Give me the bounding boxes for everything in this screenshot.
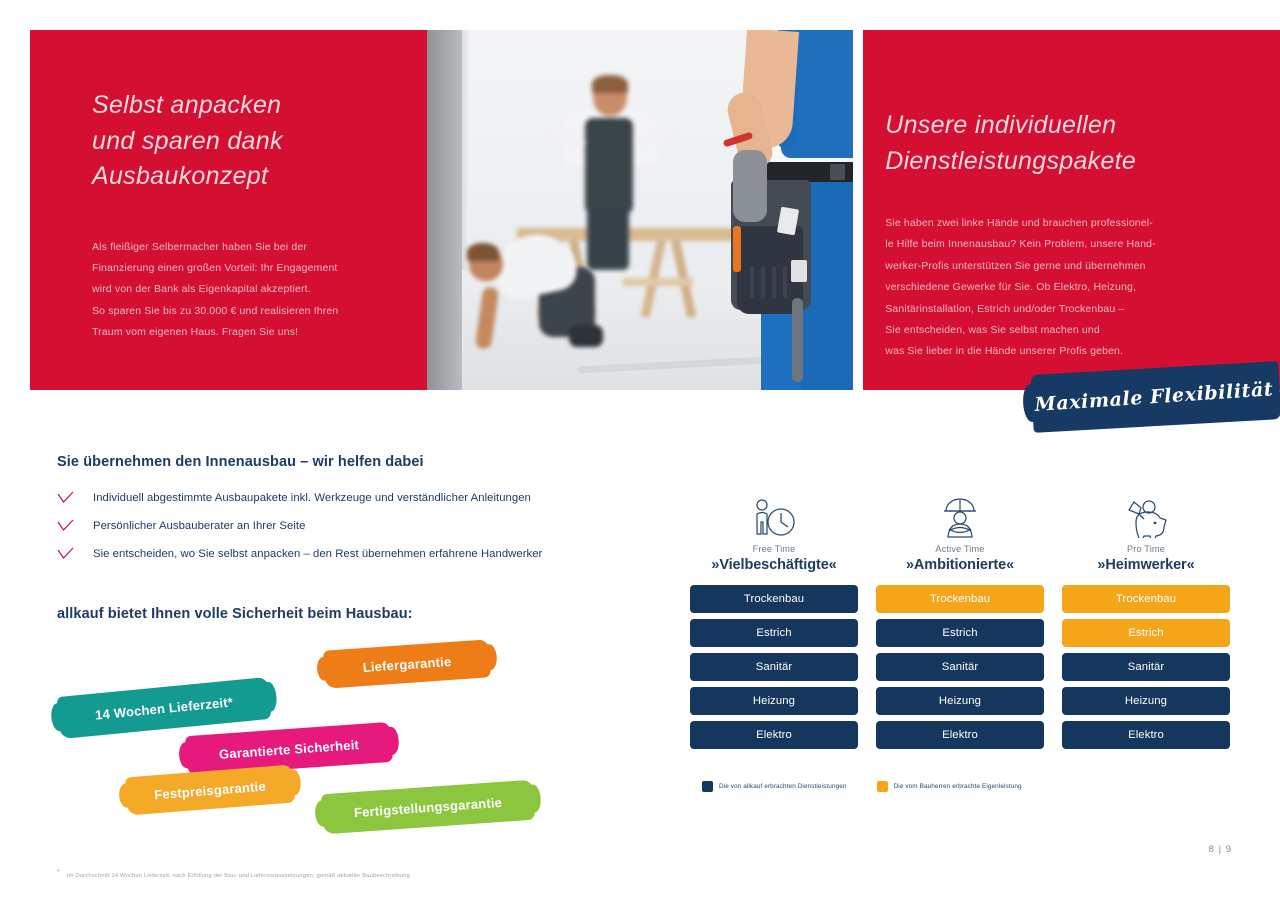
guarantee-badge: Fertigstellungsgarantie	[321, 780, 535, 835]
package-cell[interactable]: Trockenbau	[690, 585, 858, 613]
worker-helmet-icon	[876, 492, 1044, 538]
legend-swatch	[702, 781, 713, 792]
hero-right-body: Sie haben zwei linke Hände und brauchen …	[885, 213, 1222, 363]
package-cell[interactable]: Sanitär	[1062, 653, 1230, 681]
list-item-label: Sie entscheiden, wo Sie selbst anpacken …	[93, 546, 542, 563]
package-cell[interactable]: Heizung	[1062, 687, 1230, 715]
package-cell[interactable]: Trockenbau	[876, 585, 1044, 613]
checklist: Individuell abgestimmte Ausbaupakete ink…	[57, 490, 617, 574]
package-name: »Ambitionierte«	[876, 557, 1044, 573]
piggy-bank-icon	[1062, 492, 1230, 538]
hero-section: Selbst anpacken und sparen dank Ausbauko…	[30, 30, 1280, 390]
check-icon	[57, 518, 93, 537]
list-item: Individuell abgestimmte Ausbaupakete ink…	[57, 490, 617, 518]
hero-left-body: Als fleißiger Selbermacher haben Sie bei…	[92, 237, 365, 344]
package-name: »Heimwerker«	[1062, 557, 1230, 573]
package-cell[interactable]: Elektro	[1062, 721, 1230, 749]
package-cell[interactable]: Heizung	[876, 687, 1044, 715]
package-subtitle: Pro Time	[1062, 544, 1230, 554]
page-number: 8 | 9	[1209, 844, 1232, 855]
photo-kneeling-worker	[457, 225, 597, 365]
list-item-label: Persönlicher Ausbauberater an Ihrer Seit…	[93, 518, 305, 535]
package-name: »Vielbeschäftigte«	[690, 557, 858, 573]
checklist-heading: Sie übernehmen den Innenausbau – wir hel…	[57, 454, 424, 470]
package-cells: TrockenbauEstrichSanitärHeizungElektro	[690, 585, 858, 749]
legend-item: Die vom Bauherren erbrachte Eigenleistun…	[877, 781, 1022, 792]
photo-foreground-worker	[679, 30, 853, 390]
package-cell[interactable]: Estrich	[876, 619, 1044, 647]
footnote: *Im Durchschnitt 14 Wochen Lieferzeit, n…	[57, 869, 410, 879]
package-cell[interactable]: Heizung	[690, 687, 858, 715]
package-cell[interactable]: Sanitär	[690, 653, 858, 681]
guarantee-badge: Festpreisgarantie	[125, 764, 295, 815]
package-subtitle: Free Time	[690, 544, 858, 554]
guarantee-badge: 14 Wochen Lieferzeit*	[56, 677, 271, 739]
legend-label: Die von allkauf erbrachten Dienstleistun…	[719, 783, 847, 790]
package-cell[interactable]: Elektro	[690, 721, 858, 749]
list-item-label: Individuell abgestimmte Ausbaupakete ink…	[93, 490, 531, 507]
package-cell[interactable]: Sanitär	[876, 653, 1044, 681]
footnote-text: Im Durchschnitt 14 Wochen Lieferzeit, na…	[67, 873, 410, 879]
package-column: Free Time»Vielbeschäftigte«TrockenbauEst…	[690, 492, 858, 755]
check-icon	[57, 546, 93, 565]
service-packages-table: Free Time»Vielbeschäftigte«TrockenbauEst…	[690, 492, 1230, 755]
list-item: Persönlicher Ausbauberater an Ihrer Seit…	[57, 518, 617, 546]
package-cell[interactable]: Estrich	[1062, 619, 1230, 647]
person-clock-icon	[690, 492, 858, 538]
legend-item: Die von allkauf erbrachten Dienstleistun…	[702, 781, 847, 792]
package-subtitle: Active Time	[876, 544, 1044, 554]
hero-divider	[853, 30, 863, 390]
package-column: Active Time»Ambitionierte«TrockenbauEstr…	[876, 492, 1044, 755]
hero-left-title: Selbst anpacken und sparen dank Ausbauko…	[92, 88, 365, 195]
package-cells: TrockenbauEstrichSanitärHeizungElektro	[876, 585, 1044, 749]
legend-swatch	[877, 781, 888, 792]
package-cell[interactable]: Estrich	[690, 619, 858, 647]
photo-tool-screwdrivers	[741, 266, 787, 300]
hero-right-title: Unsere individuellen Dienstleistungspake…	[885, 108, 1222, 179]
check-icon	[57, 490, 93, 509]
guarantee-badges: Liefergarantie14 Wochen Lieferzeit*Garan…	[40, 635, 620, 835]
package-cells: TrockenbauEstrichSanitärHeizungElektro	[1062, 585, 1230, 749]
package-cell[interactable]: Elektro	[876, 721, 1044, 749]
legend-label: Die vom Bauherren erbrachte Eigenleistun…	[894, 783, 1022, 790]
hero-right-panel: Unsere individuellen Dienstleistungspake…	[863, 30, 1280, 390]
handwerker-photo	[427, 30, 853, 390]
footnote-marker: *	[57, 869, 60, 876]
flexibility-ribbon: Maximale Flexibilität	[1031, 361, 1280, 433]
packages-legend: Die von allkauf erbrachten Dienstleistun…	[702, 781, 1022, 792]
badges-heading: allkauf bietet Ihnen volle Sicherheit be…	[57, 606, 413, 622]
package-cell[interactable]: Trockenbau	[1062, 585, 1230, 613]
guarantee-badge: Liefergarantie	[323, 639, 491, 688]
package-column: Pro Time»Heimwerker«TrockenbauEstrichSan…	[1062, 492, 1230, 755]
list-item: Sie entscheiden, wo Sie selbst anpacken …	[57, 546, 617, 574]
hero-left-panel: Selbst anpacken und sparen dank Ausbauko…	[30, 30, 427, 390]
